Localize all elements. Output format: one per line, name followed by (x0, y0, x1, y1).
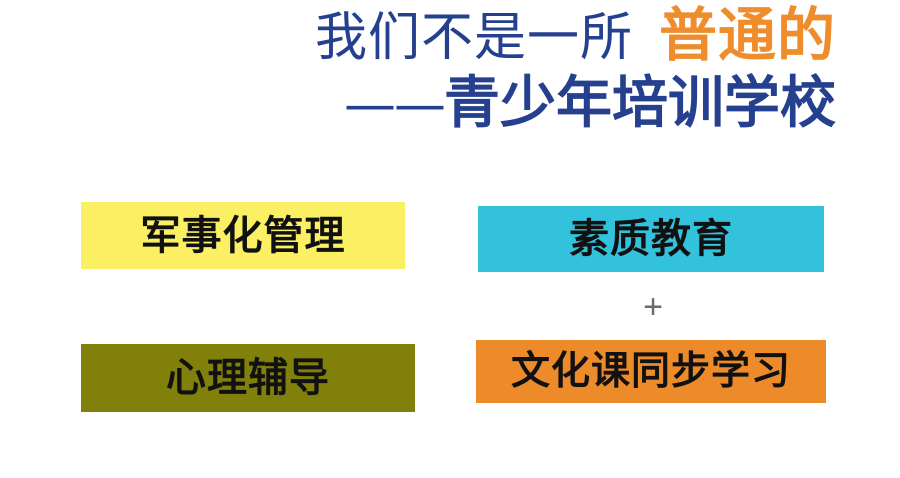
poster-canvas: 我们不是一所普通的 ——青少年培训学校 军事化管理 素质教育 心理辅导 文化课同… (0, 0, 900, 478)
feature-box-psychological-counseling[interactable]: 心理辅导 (81, 344, 415, 412)
headline-line-2: ——青少年培训学校 (0, 76, 836, 132)
feature-box-academic-sync-study[interactable]: 文化课同步学习 (476, 340, 826, 403)
feature-box-quality-education[interactable]: 素质教育 (478, 206, 824, 272)
headline-accent-text: 普通的 (659, 1, 836, 69)
feature-label: 心理辅导 (166, 358, 330, 398)
feature-box-military-management[interactable]: 军事化管理 (81, 202, 405, 269)
plus-icon: + (636, 290, 670, 324)
feature-label: 文化课同步学习 (511, 352, 791, 391)
feature-label: 军事化管理 (141, 216, 346, 256)
headline-line-1: 我们不是一所普通的 (0, 6, 836, 64)
headline-subtitle-text: 青少年培训学校 (444, 71, 836, 136)
headline-block: 我们不是一所普通的 ——青少年培训学校 (0, 0, 900, 160)
feature-label: 素质教育 (569, 219, 733, 259)
headline-em-dash: —— (344, 75, 444, 135)
headline-plain-text: 我们不是一所 (315, 8, 633, 68)
